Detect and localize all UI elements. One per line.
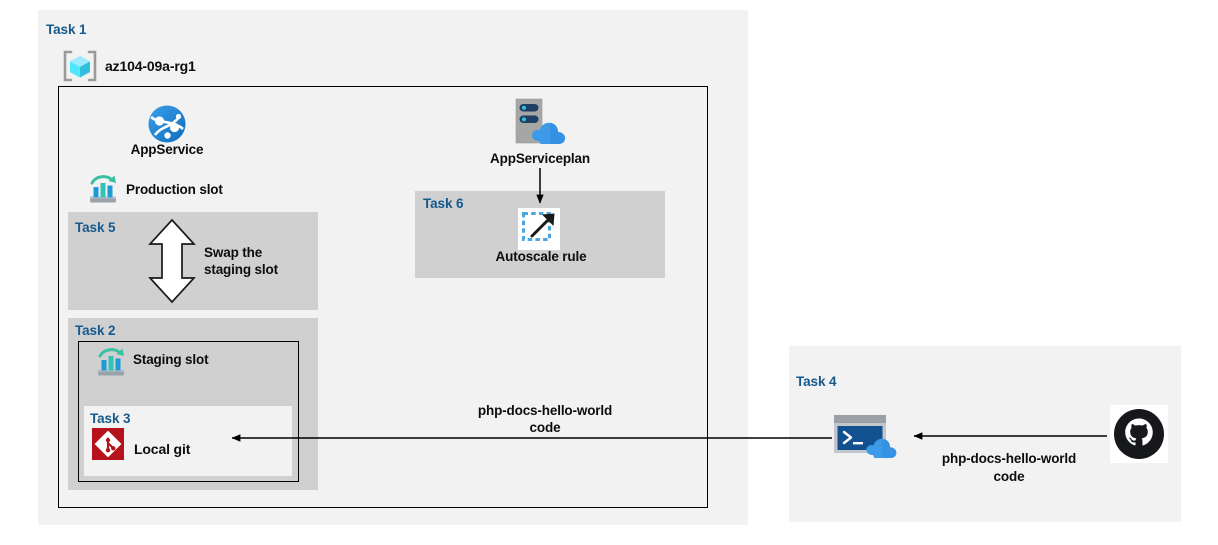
task4-label: Task 4	[796, 374, 836, 389]
deployment-slot-bar-chart-icon	[95, 347, 129, 377]
task4-edge-label-line1: php-docs-hello-world	[908, 450, 1110, 467]
staging-slot-label: Staging slot	[133, 351, 208, 368]
git-logo-icon	[92, 428, 124, 460]
autoscale-expand-arrow-icon	[518, 208, 560, 250]
appservice-label: AppService	[107, 141, 227, 158]
task1-label: Task 1	[46, 22, 86, 37]
center-edge-label-line2: code	[430, 419, 660, 436]
appserviceplan-label: AppServiceplan	[460, 150, 620, 167]
task5-swap-text-line2: staging slot	[204, 261, 278, 278]
task3-label: Task 3	[90, 411, 130, 426]
task5-swap-text-line1: Swap the	[204, 244, 262, 261]
deployment-slot-bar-chart-icon	[87, 174, 121, 204]
task2-label: Task 2	[75, 323, 115, 338]
task6-label: Task 6	[423, 196, 463, 211]
cloud-shell-console-icon	[832, 413, 900, 459]
task5-label: Task 5	[75, 220, 115, 235]
resource-group-cube-icon	[61, 49, 99, 83]
github-octocat-icon	[1110, 405, 1168, 463]
diagram-canvas: Task 1 az104-09a-rg1	[0, 0, 1218, 545]
autoscale-rule-label: Autoscale rule	[460, 248, 622, 265]
production-slot-label: Production slot	[126, 181, 223, 198]
task4-edge-label-line2: code	[908, 468, 1110, 485]
local-git-label: Local git	[134, 441, 190, 458]
swap-double-arrow-icon	[146, 218, 198, 304]
app-service-plan-server-cloud-icon	[509, 97, 571, 147]
resource-group-label: az104-09a-rg1	[105, 58, 196, 75]
app-service-globe-icon	[147, 104, 187, 144]
center-edge-label-line1: php-docs-hello-world	[430, 402, 660, 419]
